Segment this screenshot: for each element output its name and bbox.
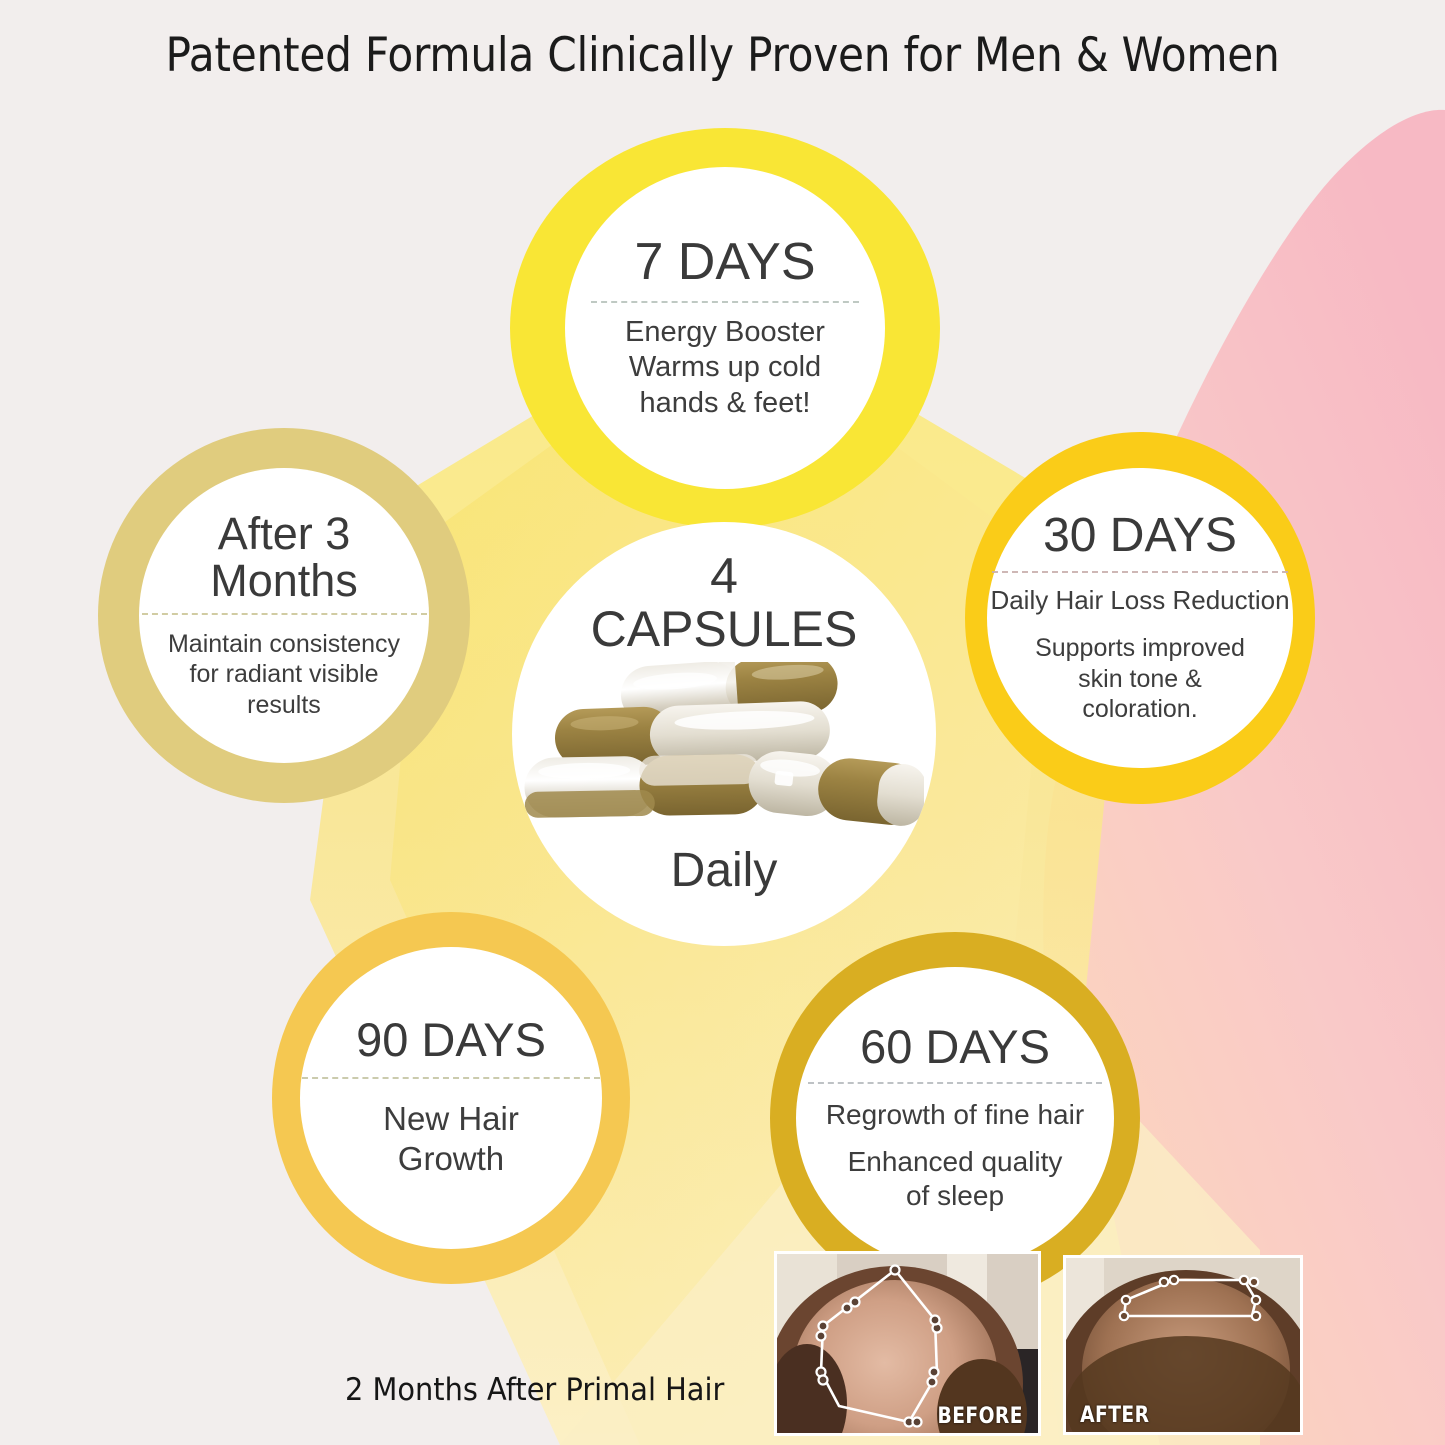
divider-dashed bbox=[808, 1082, 1102, 1084]
center-heading: 4 CAPSULES bbox=[591, 550, 858, 656]
node-after-3-months-body-line-1: Maintain consistency bbox=[168, 629, 400, 660]
capsule-photo-image bbox=[524, 662, 924, 837]
node-7-days-card: 7 DAYS Energy Booster Warms up cold hand… bbox=[565, 167, 885, 489]
node-60-days-body: Regrowth of fine hair bbox=[826, 1098, 1084, 1132]
node-60-days-body2-line-1: Enhanced quality bbox=[848, 1145, 1063, 1179]
photo-before-label: BEFORE bbox=[937, 1404, 1022, 1429]
node-7-days-body-line-3: hands & feet! bbox=[625, 386, 825, 421]
node-30-days-card: 30 DAYS Daily Hair Loss Reduction Suppor… bbox=[987, 468, 1293, 768]
node-after-3-months-body-line-2: for radiant visible bbox=[168, 659, 400, 690]
divider-dashed bbox=[302, 1077, 600, 1079]
node-after-3-months-body: Maintain consistency for radiant visible… bbox=[168, 629, 400, 721]
node-after-3-months-card: After 3 Months Maintain consistency for … bbox=[139, 468, 429, 763]
node-30-days-body-secondary: Supports improved skin tone & coloration… bbox=[1035, 633, 1245, 725]
node-90-days-body: New Hair Growth bbox=[383, 1099, 519, 1180]
node-60-days-body2-line-2: of sleep bbox=[848, 1179, 1063, 1213]
infographic-canvas: Patented Formula Clinically Proven for M… bbox=[0, 0, 1445, 1445]
node-after-3-months-heading: After 3 Months bbox=[210, 511, 358, 605]
photo-after-label: AFTER bbox=[1080, 1403, 1149, 1428]
divider-dashed bbox=[591, 301, 859, 303]
node-30-days-body2-line-2: skin tone & bbox=[1035, 664, 1245, 695]
node-90-days-body-line-1: New Hair bbox=[383, 1099, 519, 1139]
center-heading-line-1: 4 bbox=[591, 550, 858, 603]
node-30-days-body: Daily Hair Loss Reduction bbox=[990, 585, 1289, 617]
node-30-days: 30 DAYS Daily Hair Loss Reduction Suppor… bbox=[965, 432, 1315, 804]
node-90-days: 90 DAYS New Hair Growth bbox=[272, 912, 630, 1284]
node-after-3-months-heading-line-2: Months bbox=[210, 558, 358, 605]
node-60-days-body-secondary: Enhanced quality of sleep bbox=[848, 1145, 1063, 1213]
divider-dashed bbox=[142, 613, 427, 615]
center-heading-line-2: CAPSULES bbox=[591, 603, 858, 656]
node-60-days-card: 60 DAYS Regrowth of fine hair Enhanced q… bbox=[796, 967, 1114, 1269]
node-7-days-body-line-2: Warms up cold bbox=[625, 350, 825, 385]
node-7-days-heading: 7 DAYS bbox=[634, 235, 815, 289]
photo-after: AFTER bbox=[1063, 1255, 1303, 1435]
node-after-3-months-body-line-3: results bbox=[168, 690, 400, 721]
node-7-days-body-line-1: Energy Booster bbox=[625, 315, 825, 350]
node-7-days-body: Energy Booster Warms up cold hands & fee… bbox=[625, 315, 825, 421]
node-90-days-body-line-2: Growth bbox=[383, 1139, 519, 1179]
node-after-3-months: After 3 Months Maintain consistency for … bbox=[98, 428, 470, 803]
node-7-days: 7 DAYS Energy Booster Warms up cold hand… bbox=[510, 128, 940, 528]
divider-dashed bbox=[992, 571, 1288, 573]
node-center-dosage: 4 CAPSULES bbox=[512, 522, 936, 946]
page-title: Patented Formula Clinically Proven for M… bbox=[72, 28, 1373, 83]
node-90-days-heading: 90 DAYS bbox=[356, 1016, 546, 1065]
node-90-days-card: 90 DAYS New Hair Growth bbox=[300, 947, 602, 1249]
node-60-days-heading: 60 DAYS bbox=[860, 1023, 1050, 1072]
node-30-days-body2-line-3: coloration. bbox=[1035, 694, 1245, 725]
node-30-days-heading: 30 DAYS bbox=[1043, 511, 1237, 561]
center-subtext: Daily bbox=[671, 843, 778, 898]
bottom-caption: 2 Months After Primal Hair bbox=[345, 1372, 724, 1408]
node-60-days: 60 DAYS Regrowth of fine hair Enhanced q… bbox=[770, 932, 1140, 1304]
node-after-3-months-heading-line-1: After 3 bbox=[210, 511, 358, 558]
node-30-days-body2-line-1: Supports improved bbox=[1035, 633, 1245, 664]
photo-before: BEFORE bbox=[774, 1251, 1041, 1436]
